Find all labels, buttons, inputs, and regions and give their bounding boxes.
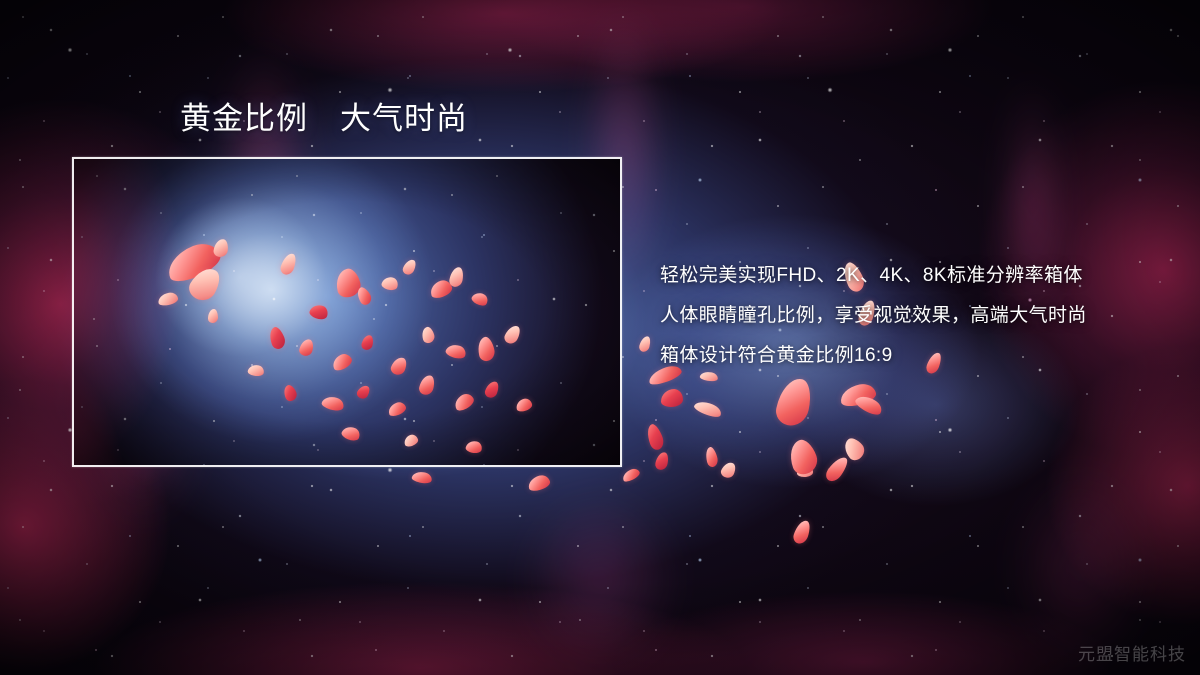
petal — [381, 275, 400, 292]
petal — [621, 467, 642, 484]
petal — [354, 285, 373, 307]
petal — [638, 335, 652, 353]
petal — [444, 342, 467, 361]
petal — [333, 267, 363, 300]
page-title: 黄金比例 大气时尚 — [180, 101, 468, 137]
framed-nebula-image[interactable] — [72, 157, 622, 467]
petal — [719, 460, 737, 480]
petal — [213, 238, 229, 258]
panel-nebula-core — [74, 159, 620, 465]
petal — [785, 437, 821, 478]
petal — [476, 336, 497, 363]
body-line-2: 人体眼睛瞳孔比例，享受视觉效果，高端大气时尚 — [660, 296, 1180, 336]
petal — [267, 325, 288, 350]
petal — [247, 364, 265, 378]
petal — [797, 465, 813, 477]
petal — [281, 383, 298, 402]
panel-image-inner — [74, 159, 620, 465]
petal — [308, 302, 330, 321]
petal — [853, 392, 884, 418]
petal — [330, 351, 354, 372]
petal — [208, 309, 218, 323]
petal — [389, 355, 409, 377]
petal — [340, 424, 362, 443]
petal — [162, 238, 224, 286]
petal — [321, 394, 346, 413]
panel-nebula-red — [74, 159, 620, 465]
petal — [840, 435, 868, 463]
petal — [654, 451, 669, 471]
petal — [515, 397, 533, 413]
watermark-label: 元盟智能科技 — [1078, 640, 1186, 665]
petal — [279, 252, 298, 277]
panel-nebula-base — [74, 159, 620, 465]
petal — [644, 422, 666, 451]
petal — [411, 470, 433, 485]
body-line-3: 箱体设计符合黄金比例16:9 — [660, 336, 1180, 376]
body-line-1: 轻松完美实现FHD、2K、4K、8K标准分辨率箱体 — [660, 256, 1180, 296]
petal — [823, 454, 851, 485]
petal — [298, 338, 315, 358]
petal — [452, 391, 476, 413]
petal — [792, 518, 813, 545]
petal — [361, 334, 375, 351]
petal — [386, 400, 407, 417]
petal — [403, 433, 420, 448]
petal — [483, 379, 500, 399]
petal — [355, 383, 372, 401]
petal — [448, 266, 464, 288]
petal — [157, 291, 179, 306]
panel-vignette — [74, 159, 620, 465]
panel-starfield-medium — [74, 159, 620, 465]
petal — [704, 446, 720, 468]
petal — [420, 326, 436, 345]
petal — [418, 374, 436, 397]
slide-canvas: 黄金比例 大气时尚 轻松完美实现FHD、2K、4K、8K标准分辨率箱体 人体眼睛… — [0, 0, 1200, 675]
petal — [470, 290, 490, 308]
body-text-block: 轻松完美实现FHD、2K、4K、8K标准分辨率箱体 人体眼睛瞳孔比例，享受视觉效… — [660, 256, 1180, 376]
panel-starfield-small — [74, 159, 620, 465]
petal — [838, 381, 877, 408]
petal — [401, 257, 418, 276]
petal — [527, 473, 552, 492]
petal — [502, 323, 522, 346]
petal — [661, 389, 683, 407]
petal — [185, 263, 225, 305]
petal — [428, 278, 454, 300]
petal — [693, 398, 723, 420]
petal — [773, 375, 814, 429]
petal — [465, 439, 483, 454]
